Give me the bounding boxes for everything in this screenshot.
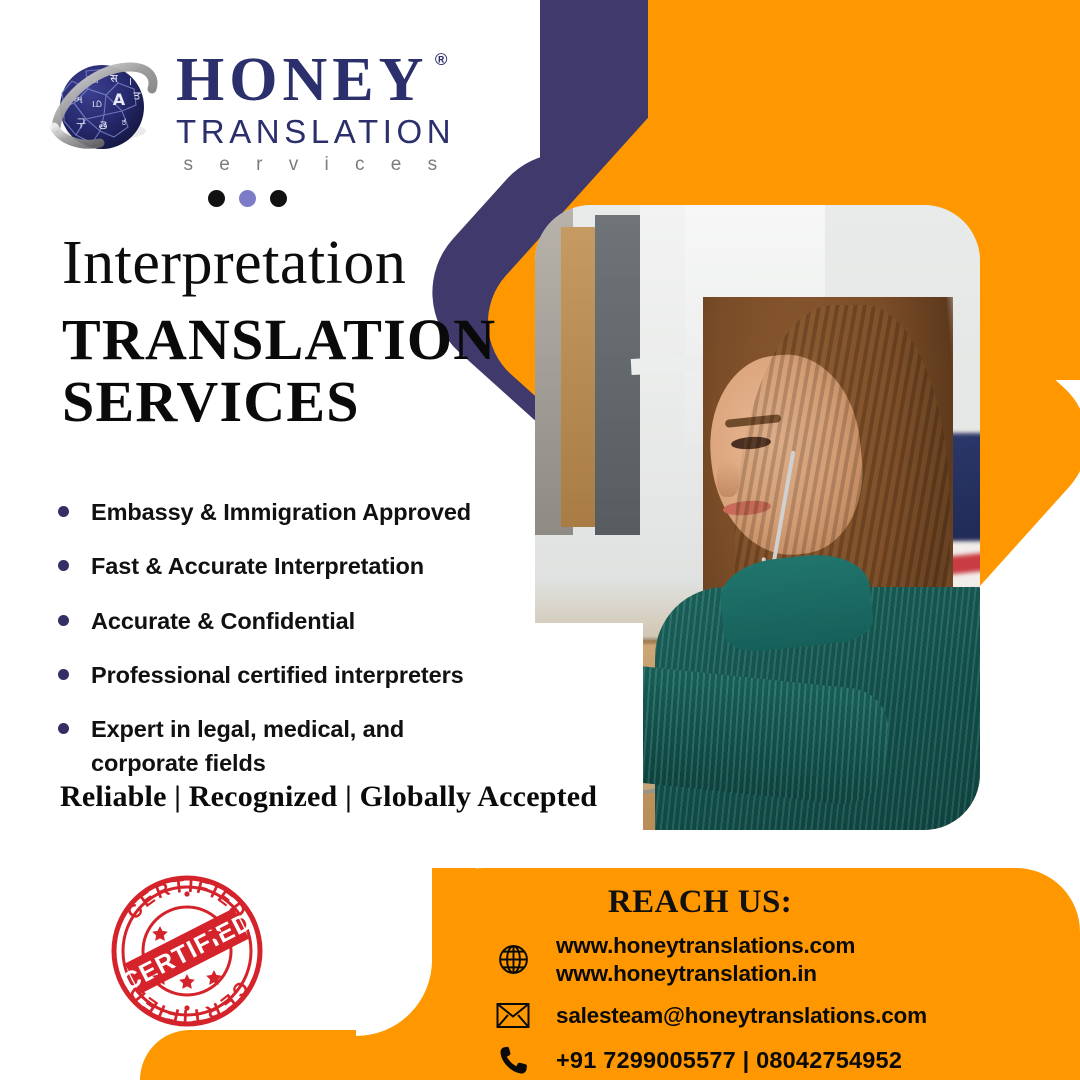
contact-row-website[interactable]: www.honeytranslations.com www.honeytrans… xyxy=(492,932,927,988)
brand-logo[interactable]: க स । અ ம A ਤ 구 తె ಕ HONEY ® T xyxy=(48,46,455,176)
svg-text:।: । xyxy=(128,75,132,88)
contact-row-phone[interactable]: +91 7299005577 | 08042754952 xyxy=(492,1044,927,1077)
svg-text:ಕ: ಕ xyxy=(122,115,127,128)
globe-icon xyxy=(492,943,534,976)
page-title: Interpretation TRANSLATION SERVICES xyxy=(62,232,496,437)
contact-row-email[interactable]: salesteam@honeytranslations.com xyxy=(492,1002,927,1030)
decorative-dots xyxy=(208,190,287,207)
svg-text:ம: ம xyxy=(92,96,102,111)
certified-stamp-icon: CERTIFIED CERTIFIED CERTIFIED xyxy=(108,872,266,1030)
bullet-dot-icon xyxy=(58,560,69,571)
list-item-label: Embassy & Immigration Approved xyxy=(91,496,471,529)
bullet-dot-icon xyxy=(58,506,69,517)
list-item: Embassy & Immigration Approved xyxy=(58,496,528,529)
dot-3 xyxy=(270,190,287,207)
list-item: Fast & Accurate Interpretation xyxy=(58,550,528,583)
poster-canvas: க स । અ ம A ਤ 구 తె ಕ HONEY ® T xyxy=(0,0,1080,1080)
email-address[interactable]: salesteam@honeytranslations.com xyxy=(556,1002,927,1030)
list-item-label: Professional certified interpreters xyxy=(91,659,464,692)
headline-script-line: Interpretation xyxy=(62,232,496,294)
envelope-icon xyxy=(492,1002,534,1029)
bullet-dot-icon xyxy=(58,669,69,680)
website-line-1[interactable]: www.honeytranslations.com xyxy=(556,932,855,960)
contact-heading: REACH US: xyxy=(420,884,980,921)
svg-text:구: 구 xyxy=(76,117,86,130)
globe-languages-icon: க स । અ ம A ਤ 구 తె ಕ xyxy=(48,55,160,167)
feature-list: Embassy & Immigration Approved Fast & Ac… xyxy=(58,496,528,801)
list-item: Expert in legal, medical, and corporate … xyxy=(58,713,528,780)
headline-bold-line-1: TRANSLATION xyxy=(62,306,496,374)
hero-photo xyxy=(535,205,980,830)
list-item-label: Expert in legal, medical, and corporate … xyxy=(91,713,451,780)
contact-list: www.honeytranslations.com www.honeytrans… xyxy=(492,932,927,1080)
list-item-label: Accurate & Confidential xyxy=(91,605,355,638)
brand-name-primary: HONEY xyxy=(176,46,428,114)
registered-trademark-icon: ® xyxy=(435,52,453,69)
website-line-2[interactable]: www.honeytranslation.in xyxy=(556,960,855,988)
brand-name-tertiary: s e r v i c e s xyxy=(176,154,455,176)
brand-name-secondary: TRANSLATION xyxy=(176,113,455,152)
bullet-dot-icon xyxy=(58,615,69,626)
list-item: Professional certified interpreters xyxy=(58,659,528,692)
tagline: Reliable | Recognized | Globally Accepte… xyxy=(60,780,597,814)
brand-logo-text: HONEY ® TRANSLATION s e r v i c e s xyxy=(176,46,455,176)
svg-text:ਤ: ਤ xyxy=(132,89,141,102)
list-item: Accurate & Confidential xyxy=(58,605,528,638)
svg-text:తె: తె xyxy=(99,119,108,132)
headline-bold-line-2: SERVICES xyxy=(62,368,496,436)
bullet-dot-icon xyxy=(58,723,69,734)
phone-numbers[interactable]: +91 7299005577 | 08042754952 xyxy=(556,1046,902,1075)
svg-text:A: A xyxy=(113,90,126,109)
dot-2 xyxy=(239,190,256,207)
dot-1 xyxy=(208,190,225,207)
phone-icon xyxy=(492,1044,534,1077)
list-item-label: Fast & Accurate Interpretation xyxy=(91,550,424,583)
